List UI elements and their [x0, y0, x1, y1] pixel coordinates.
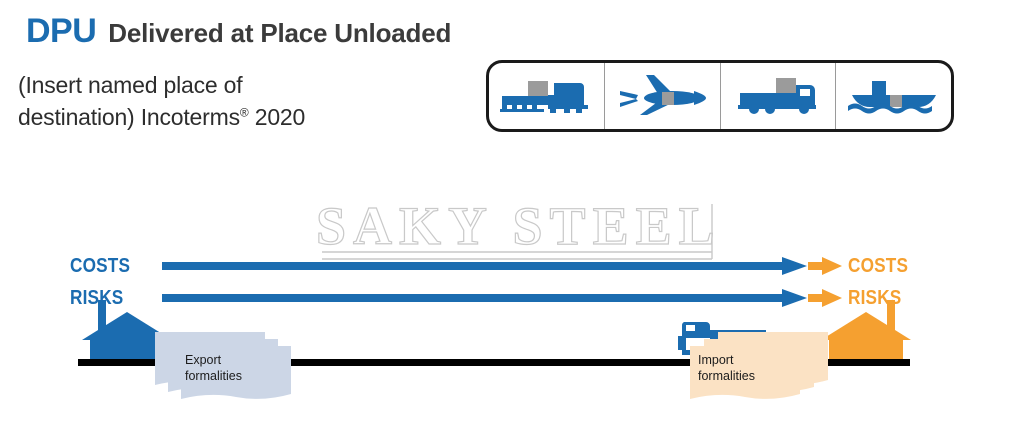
incoterm-name: Delivered at Place Unloaded [108, 18, 451, 49]
transport-mode-sea [836, 63, 951, 129]
risks-label-seller: RISKS [70, 287, 149, 310]
transport-modes-strip [486, 60, 954, 132]
export-formalities-card-stack: Export formalities [155, 330, 305, 400]
diagram-stage: SAKY STEEL [0, 140, 1024, 426]
costs-buyer-arrow [808, 255, 842, 277]
transport-mode-air [605, 63, 721, 129]
subtitle-line-2: destination) Incoterms [18, 104, 240, 130]
risks-buyer-arrow [808, 287, 842, 309]
page-subtitle: (Insert named place of destination) Inco… [18, 70, 438, 133]
transport-mode-road [721, 63, 837, 129]
subtitle-year: 2020 [255, 104, 305, 130]
import-formalities-label: Import formalities [698, 352, 755, 384]
ship-icon [846, 75, 942, 117]
incoterm-code: DPU [26, 12, 96, 51]
costs-seller-arrow [162, 255, 807, 277]
watermark-text: SAKY STEEL [316, 196, 716, 256]
incoterms-dpu-diagram: DPU Delivered at Place Unloaded (Insert … [0, 0, 1024, 426]
risks-label-buyer: RISKS [848, 287, 901, 310]
registered-trademark-symbol: ® [240, 105, 249, 119]
transport-mode-rail [489, 63, 605, 129]
train-icon [498, 75, 594, 117]
costs-flow-row: COSTS COSTS [70, 252, 960, 280]
export-formalities-label: Export formalities [185, 352, 242, 384]
truck-icon [732, 74, 824, 118]
page-title: DPU Delivered at Place Unloaded [26, 12, 451, 51]
airplane-icon [616, 73, 708, 119]
costs-label-seller: COSTS [70, 255, 149, 278]
import-formalities-card-stack: Import formalities [688, 330, 838, 400]
risks-flow-row: RISKS RISKS [70, 284, 960, 312]
risks-seller-arrow [162, 287, 807, 309]
costs-label-buyer: COSTS [848, 255, 908, 278]
subtitle-line-1: (Insert named place of [18, 72, 242, 98]
